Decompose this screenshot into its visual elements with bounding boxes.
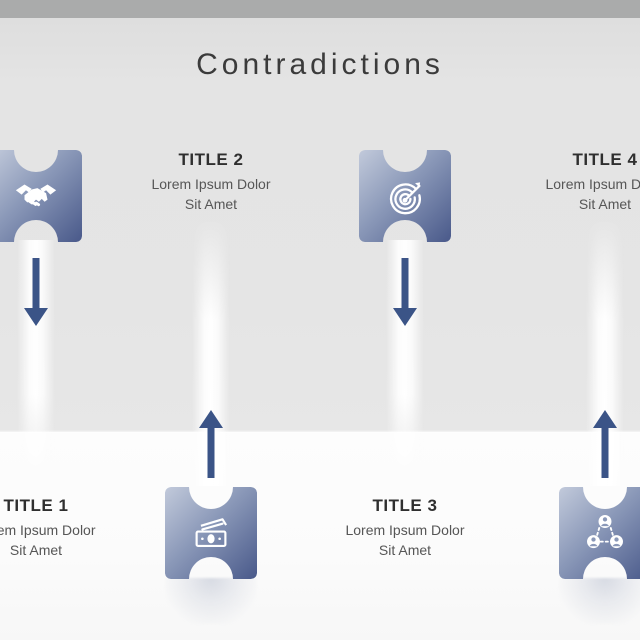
text-block-2: TITLE 2 Lorem Ipsum Dolor Sit Amet [96, 150, 326, 214]
slide-canvas: Contradictions [0, 0, 640, 640]
arrow-down-3 [388, 258, 422, 336]
text-block-3: TITLE 3 Lorem Ipsum Dolor Sit Amet [290, 496, 520, 560]
item-title-2: TITLE 2 [96, 150, 326, 170]
item-line1-2: Lorem Ipsum Dolor [96, 174, 326, 194]
icon-badge-4[interactable] [559, 487, 640, 579]
text-block-4: TITLE 4 Lorem Ipsum Dolor Sit Amet [490, 150, 640, 214]
badge-reflection-4 [559, 578, 640, 624]
item-line1-4: Lorem Ipsum Dolor [490, 174, 640, 194]
item-line1-1: Lorem Ipsum Dolor [0, 520, 151, 540]
item-title-3: TITLE 3 [290, 496, 520, 516]
arrow-up-2 [194, 400, 228, 478]
item-line2-2: Sit Amet [96, 194, 326, 214]
arrow-up-4 [588, 400, 622, 478]
item-line2-1: Sit Amet [0, 540, 151, 560]
icon-badge-3[interactable] [359, 150, 451, 242]
icon-badge-1[interactable] [0, 150, 82, 242]
item-line1-3: Lorem Ipsum Dolor [290, 520, 520, 540]
item-line2-4: Sit Amet [490, 194, 640, 214]
page-title: Contradictions [0, 48, 640, 82]
badge-reflection-2 [165, 578, 257, 624]
background-divider [0, 430, 640, 433]
item-title-4: TITLE 4 [490, 150, 640, 170]
text-block-1: TITLE 1 Lorem Ipsum Dolor Sit Amet [0, 496, 151, 560]
icon-badge-2[interactable] [165, 487, 257, 579]
item-title-1: TITLE 1 [0, 496, 151, 516]
arrow-down-1 [19, 258, 53, 336]
item-line2-3: Sit Amet [290, 540, 520, 560]
top-bar [0, 0, 640, 18]
